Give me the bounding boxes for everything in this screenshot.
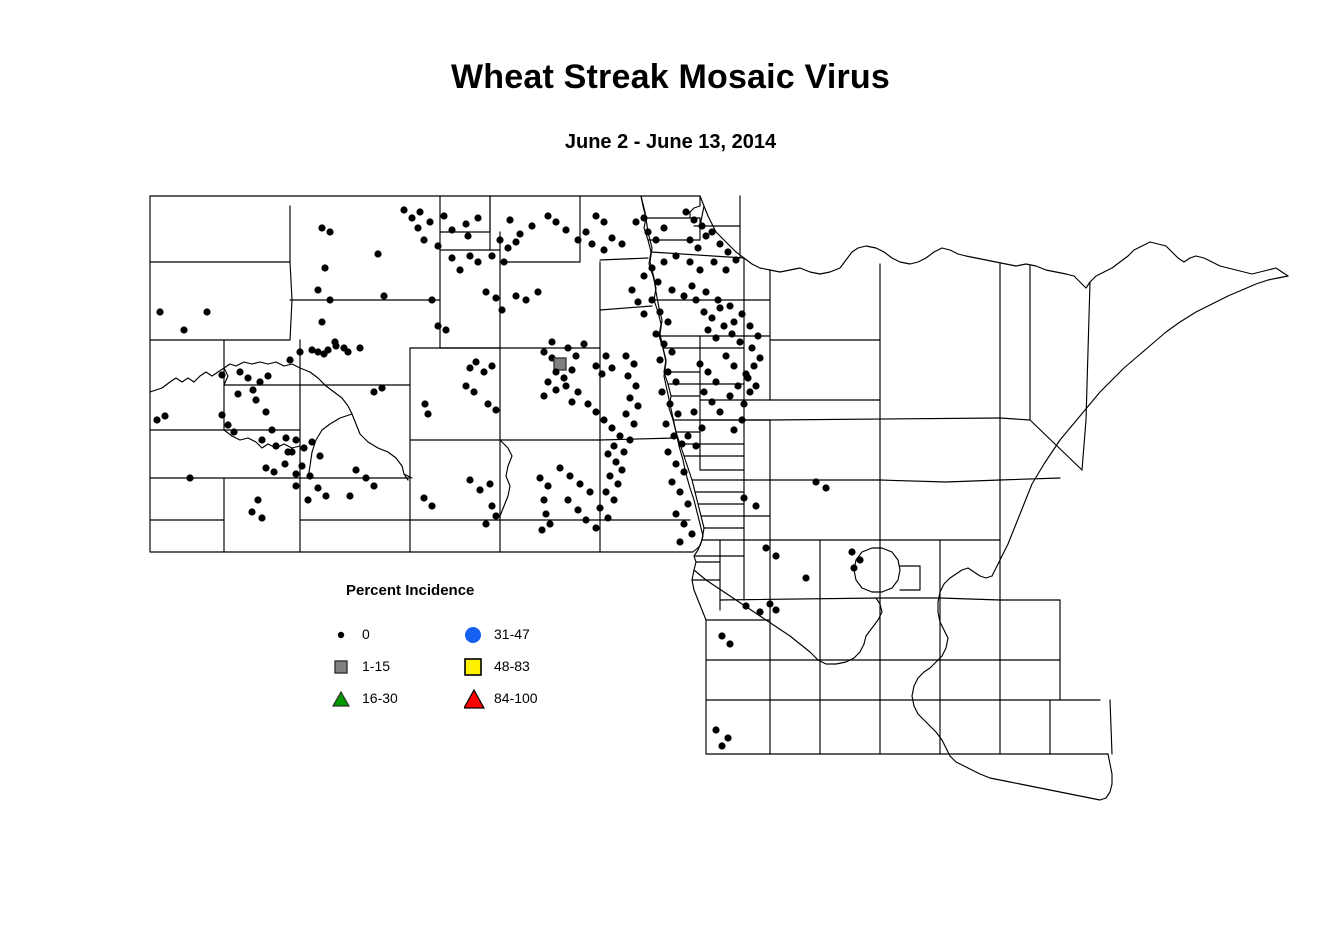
data-point [538, 526, 545, 533]
data-point [730, 426, 737, 433]
data-point [544, 482, 551, 489]
data-point [734, 382, 741, 389]
data-point [492, 406, 499, 413]
data-point [426, 218, 433, 225]
data-point [752, 382, 759, 389]
data-point [488, 252, 495, 259]
data-point [554, 358, 566, 370]
data-point [552, 218, 559, 225]
data-point [628, 286, 635, 293]
data-point [416, 208, 423, 215]
legend-label-3: 31-47 [494, 626, 530, 642]
data-point [466, 364, 473, 371]
data-point [428, 502, 435, 509]
data-point [292, 470, 299, 477]
data-point [672, 378, 679, 385]
blue-circle-icon [464, 624, 490, 646]
data-point [268, 426, 275, 433]
data-point [322, 492, 329, 499]
data-point [672, 510, 679, 517]
data-point [572, 352, 579, 359]
data-point [640, 272, 647, 279]
data-point [480, 368, 487, 375]
data-point [552, 386, 559, 393]
data-point [428, 296, 435, 303]
data-point [674, 410, 681, 417]
data-point [598, 370, 605, 377]
data-point [560, 374, 567, 381]
data-point [676, 538, 683, 545]
data-point [668, 286, 675, 293]
data-point [374, 250, 381, 257]
data-point [722, 352, 729, 359]
data-point [698, 222, 705, 229]
data-point [344, 348, 351, 355]
data-point [464, 232, 471, 239]
data-point [592, 362, 599, 369]
data-point [704, 326, 711, 333]
data-point [564, 344, 571, 351]
data-point [548, 338, 555, 345]
data-point [716, 304, 723, 311]
data-point [562, 382, 569, 389]
data-point [562, 226, 569, 233]
data-point [664, 368, 671, 375]
data-point [448, 226, 455, 233]
data-point [420, 236, 427, 243]
data-point [608, 424, 615, 431]
data-point [442, 326, 449, 333]
data-point [660, 340, 667, 347]
data-point [644, 228, 651, 235]
data-point [486, 480, 493, 487]
data-point [630, 420, 637, 427]
legend-label-2: 16-30 [362, 690, 398, 706]
county-boundaries [150, 196, 1288, 800]
data-point [474, 214, 481, 221]
data-point [582, 516, 589, 523]
data-point [664, 318, 671, 325]
data-point [320, 350, 327, 357]
data-point [626, 436, 633, 443]
data-point [712, 378, 719, 385]
data-point [634, 402, 641, 409]
data-point [420, 494, 427, 501]
data-point [690, 216, 697, 223]
data-point [161, 412, 168, 419]
data-point [702, 288, 709, 295]
small-dot-icon [332, 624, 358, 646]
data-point [668, 348, 675, 355]
data-point [678, 440, 685, 447]
legend-title: Percent Incidence [346, 582, 474, 599]
data-point [556, 464, 563, 471]
data-point [540, 392, 547, 399]
data-point [602, 352, 609, 359]
data-point [203, 308, 210, 315]
data-point [754, 332, 761, 339]
data-point [738, 310, 745, 317]
data-point [370, 482, 377, 489]
data-point [326, 296, 333, 303]
data-point [292, 482, 299, 489]
data-point [262, 408, 269, 415]
data-point [728, 330, 735, 337]
data-point [352, 466, 359, 473]
data-point [614, 480, 621, 487]
data-point [434, 322, 441, 329]
data-point [632, 382, 639, 389]
data-point [702, 232, 709, 239]
data-point [694, 244, 701, 251]
data-point [680, 292, 687, 299]
data-point [512, 238, 519, 245]
data-point [744, 374, 751, 381]
legend: Percent Incidence 0 1-15 16-30 31-47 48-… [332, 582, 602, 717]
data-point [470, 388, 477, 395]
data-point [672, 460, 679, 467]
data-point [596, 504, 603, 511]
data-point [262, 464, 269, 471]
data-point [746, 322, 753, 329]
data-point [660, 224, 667, 231]
data-point [498, 306, 505, 313]
data-point [466, 476, 473, 483]
data-point [540, 496, 547, 503]
data-point [580, 340, 587, 347]
data-point [272, 442, 279, 449]
data-point [606, 472, 613, 479]
data-point [710, 258, 717, 265]
data-point [658, 388, 665, 395]
data-point [762, 544, 769, 551]
data-point [534, 288, 541, 295]
data-point [574, 236, 581, 243]
data-point [528, 222, 535, 229]
data-point [314, 286, 321, 293]
data-point [750, 362, 757, 369]
data-point [584, 400, 591, 407]
data-point [592, 524, 599, 531]
data-point [742, 602, 749, 609]
data-point [318, 224, 325, 231]
data-point [516, 230, 523, 237]
data-point [424, 410, 431, 417]
data-point [600, 246, 607, 253]
data-point [604, 514, 611, 521]
legend-label-5: 84-100 [494, 690, 538, 706]
yellow-square-icon [464, 656, 490, 678]
data-point [574, 506, 581, 513]
data-point [620, 448, 627, 455]
data-point [756, 608, 763, 615]
data-point [318, 318, 325, 325]
data-point [256, 378, 263, 385]
data-point [756, 354, 763, 361]
data-point [704, 368, 711, 375]
data-point [772, 552, 779, 559]
data-point [321, 264, 328, 271]
data-point [586, 488, 593, 495]
data-point [346, 492, 353, 499]
data-point [462, 382, 469, 389]
data-point [224, 421, 231, 428]
data-point [856, 556, 863, 563]
gray-square-icon [332, 656, 358, 678]
data-point [766, 600, 773, 607]
data-point [592, 212, 599, 219]
data-point [568, 398, 575, 405]
data-point [522, 296, 529, 303]
data-point [304, 496, 311, 503]
data-point [506, 216, 513, 223]
data-point [308, 438, 315, 445]
data-point [802, 574, 809, 581]
data-point [740, 400, 747, 407]
data-point [488, 362, 495, 369]
data-point [236, 368, 243, 375]
data-point [153, 416, 160, 423]
data-point [680, 520, 687, 527]
data-point [656, 308, 663, 315]
data-point [772, 606, 779, 613]
data-point [566, 472, 573, 479]
data-point [326, 228, 333, 235]
data-point [564, 496, 571, 503]
data-point [542, 510, 549, 517]
data-point [666, 400, 673, 407]
data-point [592, 408, 599, 415]
data-point [622, 352, 629, 359]
data-point [724, 734, 731, 741]
data-point [608, 364, 615, 371]
data-point [712, 726, 719, 733]
data-point [602, 488, 609, 495]
data-point [640, 214, 647, 221]
data-point [612, 458, 619, 465]
data-point [740, 494, 747, 501]
data-point [186, 474, 193, 481]
data-point [716, 240, 723, 247]
data-point [408, 214, 415, 221]
data-point [258, 514, 265, 521]
data-point [552, 368, 559, 375]
data-point [362, 474, 369, 481]
data-point [544, 378, 551, 385]
data-point [252, 396, 259, 403]
data-point [714, 296, 721, 303]
data-point [630, 360, 637, 367]
data-point [696, 266, 703, 273]
data-point [466, 252, 473, 259]
data-point [632, 218, 639, 225]
data-point [270, 468, 277, 475]
data-point [850, 564, 857, 571]
data-point [680, 468, 687, 475]
data-point [720, 322, 727, 329]
green-triangle-icon [332, 688, 358, 710]
data-point [610, 442, 617, 449]
data-point [730, 318, 737, 325]
data-point [712, 334, 719, 341]
data-point [370, 388, 377, 395]
data-point [258, 436, 265, 443]
data-point [692, 442, 699, 449]
data-point [574, 388, 581, 395]
data-point [308, 346, 315, 353]
data-point [600, 218, 607, 225]
data-point [640, 310, 647, 317]
data-point [540, 348, 547, 355]
data-point [332, 342, 339, 349]
data-point [698, 424, 705, 431]
data-point [244, 374, 251, 381]
data-point [400, 206, 407, 213]
data-point [610, 496, 617, 503]
map-svg [0, 0, 1341, 926]
data-point [421, 400, 428, 407]
data-point [822, 484, 829, 491]
data-point [218, 371, 225, 378]
data-point [462, 220, 469, 227]
data-point [718, 632, 725, 639]
data-point [688, 530, 695, 537]
data-point [306, 472, 313, 479]
data-point [688, 282, 695, 289]
data-point [672, 252, 679, 259]
data-point [254, 496, 261, 503]
data-point [700, 308, 707, 315]
data-point [686, 258, 693, 265]
data-point [356, 344, 363, 351]
data-point [492, 512, 499, 519]
data-point [748, 344, 755, 351]
data-point [722, 266, 729, 273]
data-point [282, 434, 289, 441]
data-point [708, 228, 715, 235]
data-point [608, 234, 615, 241]
data-point [746, 388, 753, 395]
data-point [218, 411, 225, 418]
data-point [230, 428, 237, 435]
data-point [180, 326, 187, 333]
data-point [726, 640, 733, 647]
data-point [652, 236, 659, 243]
data-point [618, 240, 625, 247]
map-container [0, 0, 1341, 926]
data-point [414, 224, 421, 231]
data-point [616, 432, 623, 439]
data-point [684, 432, 691, 439]
data-point [546, 520, 553, 527]
data-point [668, 478, 675, 485]
data-point [296, 348, 303, 355]
data-point [264, 372, 271, 379]
data-point [654, 278, 661, 285]
data-point [472, 358, 479, 365]
data-point [284, 448, 291, 455]
data-point [482, 520, 489, 527]
data-point [708, 314, 715, 321]
data-point [234, 390, 241, 397]
data-point [380, 292, 387, 299]
data-point [736, 338, 743, 345]
data-point [738, 416, 745, 423]
data-point [716, 408, 723, 415]
data-point [732, 256, 739, 263]
data-point [484, 400, 491, 407]
data-point [618, 466, 625, 473]
data-point [588, 240, 595, 247]
data-point [504, 244, 511, 251]
data-point [700, 388, 707, 395]
data-point [488, 502, 495, 509]
data-point [626, 394, 633, 401]
data-point [676, 488, 683, 495]
data-point [482, 288, 489, 295]
data-point [568, 366, 575, 373]
data-point [752, 502, 759, 509]
data-point [476, 486, 483, 493]
data-point [622, 410, 629, 417]
data-point [496, 236, 503, 243]
data-point [660, 258, 667, 265]
data-point [664, 448, 671, 455]
data-point [648, 264, 655, 271]
data-point [724, 248, 731, 255]
data-point [624, 372, 631, 379]
data-point [474, 258, 481, 265]
data-point [314, 484, 321, 491]
data-point [492, 294, 499, 301]
legend-label-0: 0 [362, 626, 370, 642]
data-point [316, 452, 323, 459]
data-point [604, 450, 611, 457]
data-point [249, 386, 256, 393]
data-point [684, 500, 691, 507]
data-point [300, 444, 307, 451]
data-point [848, 548, 855, 555]
data-point [298, 462, 305, 469]
data-point [582, 228, 589, 235]
data-point [682, 208, 689, 215]
red-triangle-icon [464, 688, 490, 710]
data-point [726, 302, 733, 309]
data-point [662, 420, 669, 427]
data-point [648, 296, 655, 303]
legend-label-1: 1-15 [362, 658, 390, 674]
data-point [696, 360, 703, 367]
data-point [500, 258, 507, 265]
data-point [670, 432, 677, 439]
data-point [434, 242, 441, 249]
data-point [292, 436, 299, 443]
data-point [440, 212, 447, 219]
data-point [652, 330, 659, 337]
data-point [576, 480, 583, 487]
data-point [656, 356, 663, 363]
data-point [378, 384, 385, 391]
data-point [726, 392, 733, 399]
data-point [544, 212, 551, 219]
data-point [600, 416, 607, 423]
data-point [286, 356, 293, 363]
data-point [281, 460, 288, 467]
data-point [536, 474, 543, 481]
data-point [248, 508, 255, 515]
legend-label-4: 48-83 [494, 658, 530, 674]
data-point [730, 362, 737, 369]
